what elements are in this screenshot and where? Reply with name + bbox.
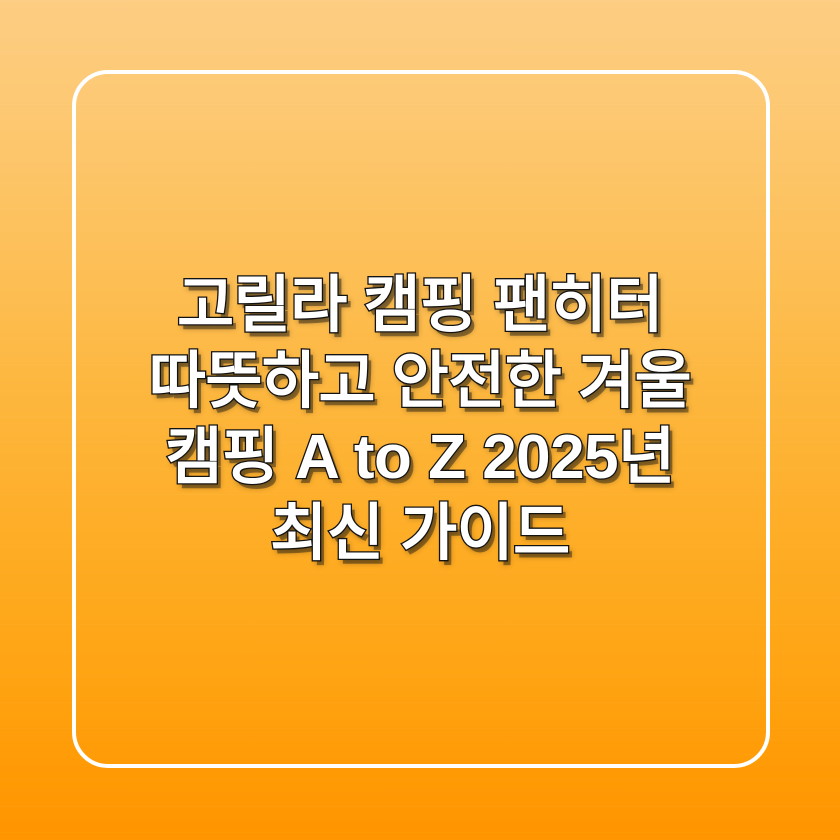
title-line-4: 최신 가이드 xyxy=(149,496,691,572)
title-block: 고릴라 캠핑 팬히터 따뜻하고 안전한 겨울 캠핑 A to Z 2025년 최… xyxy=(0,0,840,840)
thumbnail-canvas: 고릴라 캠핑 팬히터 따뜻하고 안전한 겨울 캠핑 A to Z 2025년 최… xyxy=(0,0,840,840)
title-line-3: 캠핑 A to Z 2025년 xyxy=(149,420,691,496)
title-line-2: 따뜻하고 안전한 겨울 xyxy=(149,344,691,420)
title-line-1: 고릴라 캠핑 팬히터 xyxy=(149,268,691,344)
page-title: 고릴라 캠핑 팬히터 따뜻하고 안전한 겨울 캠핑 A to Z 2025년 최… xyxy=(149,268,691,572)
